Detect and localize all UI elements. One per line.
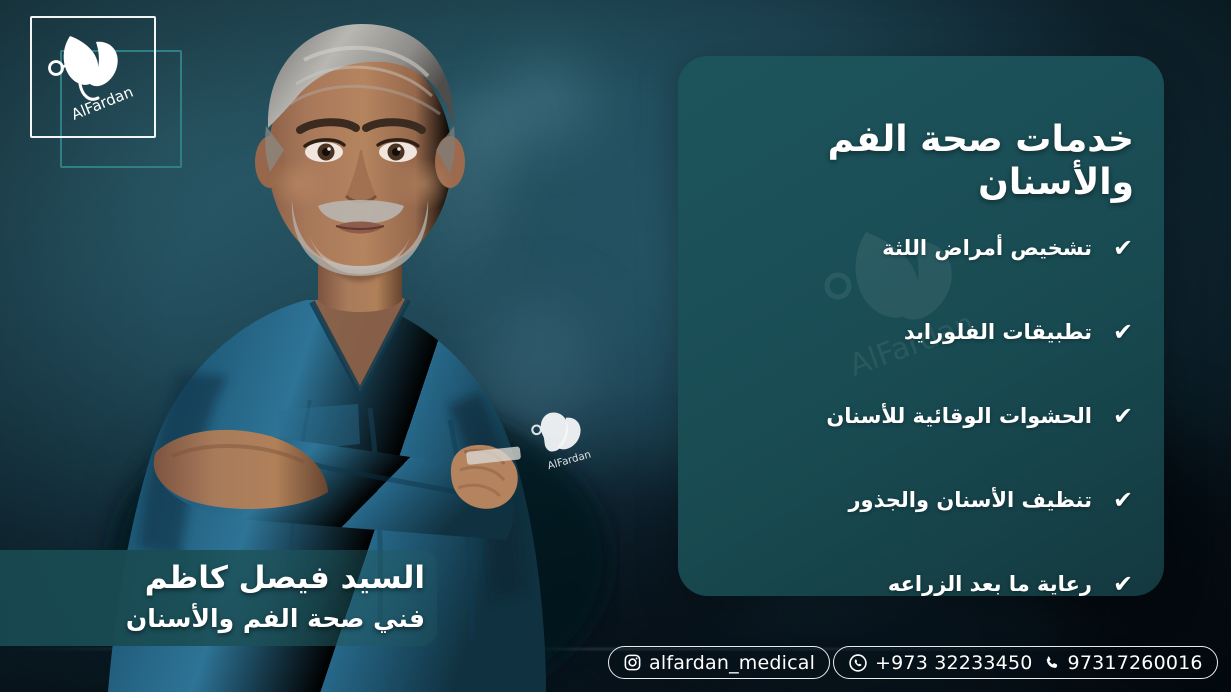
alfardan-butterfly-logo: AlFardan — [36, 20, 148, 130]
whatsapp-number: +973 32233450 — [875, 652, 1033, 674]
service-item[interactable]: ✔ الحشوات الوقائية للأسنان — [678, 374, 1164, 458]
check-icon: ✔ — [1110, 236, 1136, 260]
svg-text:AlFardan: AlFardan — [546, 448, 592, 472]
service-label: تشخيص أمراض اللثة — [882, 236, 1092, 260]
whatsapp-icon — [848, 653, 868, 673]
service-label: تنظيف الأسنان والجذور — [848, 488, 1092, 512]
logo-wordmark: AlFardan — [69, 83, 136, 124]
service-item[interactable]: ✔ تشخيص أمراض اللثة — [678, 206, 1164, 290]
instagram-handle: alfardan_medical — [649, 652, 815, 674]
check-icon: ✔ — [1110, 404, 1136, 428]
name-banner: السيد فيصل كاظم فني صحة الفم والأسنان — [0, 550, 437, 646]
check-icon: ✔ — [1110, 320, 1136, 344]
service-label: رعاية ما بعد الزراعه — [888, 572, 1092, 596]
service-label: الحشوات الوقائية للأسنان — [826, 404, 1092, 428]
poster-canvas: AlFardan AlFardan — [0, 0, 1231, 692]
service-item[interactable]: ✔ تطبيقات الفلورايد — [678, 290, 1164, 374]
brand-logo: AlFardan — [22, 8, 182, 163]
phone-icon — [1043, 654, 1061, 672]
panel-title: خدمات صحة الفم والأسنان — [714, 118, 1134, 204]
person-name: السيد فيصل كاظم — [0, 560, 425, 596]
phone-number: 97317260016 — [1068, 652, 1203, 674]
instagram-pill[interactable]: alfardan_medical — [608, 646, 830, 679]
services-panel: AlFardan خدمات صحة الفم والأسنان ✔ تشخيص… — [678, 56, 1164, 596]
services-list: ✔ تشخيص أمراض اللثة ✔ تطبيقات الفلورايد … — [678, 206, 1164, 596]
service-item[interactable]: ✔ تنظيف الأسنان والجذور — [678, 458, 1164, 542]
check-icon: ✔ — [1110, 572, 1136, 596]
phone-pill[interactable]: +973 32233450 97317260016 — [833, 646, 1218, 679]
instagram-icon — [623, 653, 642, 672]
service-label: تطبيقات الفلورايد — [904, 320, 1092, 344]
service-item[interactable]: ✔ رعاية ما بعد الزراعه — [678, 542, 1164, 596]
check-icon: ✔ — [1110, 488, 1136, 512]
person-job-title: فني صحة الفم والأسنان — [0, 604, 425, 633]
